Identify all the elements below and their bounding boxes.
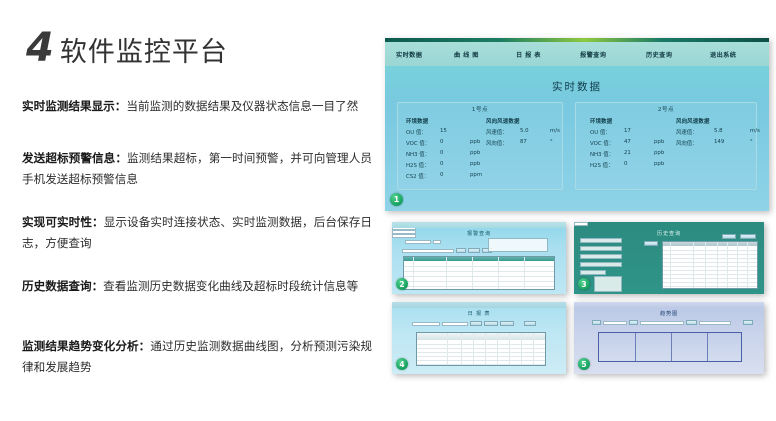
row-unit: ppb [654,150,664,156]
table-header-row [404,257,554,261]
bullet-item-1: 实时监测结果显示：当前监测的数据结果及仪器状态信息一目了然 [22,96,372,117]
history-query-button[interactable] [644,241,658,246]
bullet-item-2: 发送超标预警信息：监测结果超标，第一时间预警，并可向管理人员手机发送超标预警信息 [22,148,372,191]
menu-item-curve-chart[interactable]: 曲 线 图 [451,48,513,61]
history-filter-5[interactable] [580,270,606,275]
bullet-item-3: 实现可实时性：显示设备实时连接状态、实时监测数据，后台保存日志，方便查询 [22,212,372,255]
filter-row-1[interactable] [402,240,441,244]
trend-series-toggles[interactable] [699,321,731,325]
history-filter-4[interactable] [580,262,622,267]
screenshot-realtime-data: 实时数据 曲 线 图 日 报 表 报警查询 历史查询 退出系统 实时数据 1号点… [385,38,769,211]
trend-x-tick-2 [658,364,659,368]
row-unit: ° [550,139,553,145]
row-value: 5.8 [714,128,738,134]
right-screenshot-column: 实时数据 曲 线 图 日 报 表 报警查询 历史查询 退出系统 实时数据 1号点… [378,0,776,421]
wind-group-label: 风向风速数据 [676,117,710,125]
callout-badge-3: 3 [578,278,590,290]
station-panel-1-title: 1号点 [398,105,562,113]
row-value: 15 [440,128,464,134]
row-key: H2S 值： [590,161,620,169]
report-print-button[interactable] [500,321,514,326]
screenshot-history-query[interactable]: 历史查询 3 [574,222,764,294]
trend-close-button[interactable] [743,320,753,325]
row-key: H2S 值： [406,161,436,169]
bullet-item-4: 历史数据查询：查看监测历史数据变化曲线及超标时段统计信息等 [22,276,372,297]
bullet-lead: 实时监测结果显示： [22,99,126,113]
thumb-title: 日 报 表 [392,310,566,317]
row-unit: ppb [470,161,480,167]
row-key: OU 值： [590,128,620,136]
screenshot-alarm-query[interactable]: 报警查询 [392,222,566,294]
slide-number: 4 [26,28,53,68]
history-print-button[interactable] [740,234,756,239]
select-arrow[interactable] [433,240,441,244]
bullet-lead: 发送超标预警信息： [22,151,127,165]
menu-item-alarm-query[interactable]: 报警查询 [577,48,643,61]
station-panel-2-title: 2号点 [576,105,756,113]
row-key: CS2 值： [406,172,436,180]
row-key: VOC 值： [406,139,436,147]
row-value: 47 [624,139,648,145]
trend-station-select[interactable] [603,321,627,325]
summary-box [488,238,548,252]
row-unit: ppm [470,172,482,178]
history-filter-1[interactable] [580,238,622,243]
trend-toolbar[interactable] [592,320,753,325]
history-filter-3[interactable] [580,254,622,259]
row-value: 5.0 [520,128,544,134]
trend-plot-area [598,332,742,362]
filter-label [402,240,403,244]
daily-report-table[interactable] [416,332,546,366]
env-group-label: 环境数据 [590,117,612,125]
menu-item-daily-report[interactable]: 日 报 表 [513,48,577,61]
callout-badge-2: 2 [396,278,408,290]
row-key: VOC 值： [590,139,620,147]
row-key: NH3 值： [590,150,620,158]
row-key: 风向值： [676,139,708,147]
row-key: OU 值： [406,128,436,136]
trend-x-tick-3 [694,364,695,368]
report-date-from[interactable] [412,322,440,326]
row-unit: m/s [550,128,560,134]
row-value: 0 [440,161,464,167]
thumb-topbar [392,222,566,228]
callout-badge-1: 1 [390,193,403,206]
trend-y-tick-top [579,328,580,332]
station-panel-1: 1号点 环境数据 风向风速数据 OU 值： 15 VOC 值： 0 ppb N [397,102,563,190]
app-menu-bar[interactable]: 实时数据 曲 线 图 日 报 表 报警查询 历史查询 退出系统 [385,42,769,66]
row-key: 风速值： [676,128,708,136]
trend-x-tick-1 [622,364,623,368]
callout-badge-5: 5 [578,358,590,370]
trend-y-tick-mid [579,338,580,342]
bullet-body: 当前监测的数据结果及仪器状态信息一目了然 [126,99,358,113]
bullet-lead: 历史数据查询： [22,279,103,293]
thumb-topbar [392,302,566,308]
history-export-button[interactable] [722,234,736,239]
row-value: 0 [440,172,464,178]
select-station[interactable] [405,240,431,244]
row-key: 风速值： [486,128,516,136]
menu-item-history-query[interactable]: 历史查询 [643,48,707,61]
table-header-row [663,242,757,246]
bullet-body: 查看监测历史数据变化曲线及超标时段统计信息等 [103,279,358,293]
slide-title-text: 软件监控平台 [60,39,228,66]
report-export-button[interactable] [484,321,498,326]
app-content-area: 实时数据 1号点 环境数据 风向风速数据 OU 值： 15 VOC 值： 0 p… [385,66,769,211]
row-unit: ppb [470,139,480,145]
wind-group-label: 风向风速数据 [486,117,520,125]
left-text-column: 4 软件监控平台 实时监测结果显示：当前监测的数据结果及仪器状态信息一目了然 发… [0,0,378,421]
row-value: 0 [440,150,464,156]
row-unit: ° [750,139,753,145]
trend-back-button[interactable] [592,320,601,325]
filter-row-2[interactable] [402,248,492,253]
row-unit: m/s [750,128,760,134]
station-panel-2: 2号点 环境数据 风向风速数据 OU 值： 17 VOC 值： 47 ppb [575,102,757,190]
row-key: 风向值： [486,139,516,147]
date-range-input[interactable] [402,249,454,253]
trend-x-tick-4 [729,364,730,368]
history-date-field[interactable] [574,222,588,226]
table-header-row [417,333,545,340]
screenshot-daily-report[interactable]: 日 报 表 4 [392,302,566,374]
alarm-table[interactable] [403,256,555,290]
row-value: 17 [624,128,648,134]
thumb-title: 报警查询 [392,230,566,237]
env-group-label: 环境数据 [406,117,428,125]
row-value: 149 [714,139,738,145]
report-filter-row[interactable] [412,321,536,326]
bullet-item-5: 监测结果趋势变化分析：通过历史监测数据曲线图，分析预测污染规律和发展趋势 [22,336,372,379]
history-list-box[interactable] [594,276,622,292]
row-unit: ppb [654,161,664,167]
app-page-title: 实时数据 [385,79,769,94]
report-date-to[interactable] [442,322,468,326]
report-query-button[interactable] [470,321,482,326]
query-button[interactable] [456,248,466,253]
bullet-lead: 监测结果趋势变化分析： [22,339,150,353]
history-table[interactable] [662,241,758,289]
report-close-button[interactable] [524,321,536,326]
row-value: 87 [520,139,544,145]
menu-item-realtime-data[interactable]: 实时数据 [393,48,451,61]
bullet-lead: 实现可实时性： [22,215,104,229]
trend-daterange-input[interactable] [640,321,684,325]
menu-item-exit-system[interactable]: 退出系统 [707,48,767,61]
callout-badge-4: 4 [396,358,408,370]
trend-query-button[interactable] [686,320,697,325]
row-value: 0 [440,139,464,145]
row-unit: ppb [654,139,664,145]
thumb-topbar [574,302,764,308]
row-value: 0 [624,161,648,167]
row-value: 21 [624,150,648,156]
row-key: NH3 值： [406,150,436,158]
page-title: 4 软件监控平台 [26,28,228,68]
row-unit: ppb [470,150,480,156]
thumb-title: 趋势图 [574,310,764,317]
slide-root: 4 软件监控平台 实时监测结果显示：当前监测的数据结果及仪器状态信息一目了然 发… [0,0,776,421]
screenshot-trend-chart[interactable]: 趋势图 5 [574,302,764,374]
trend-refresh-button[interactable] [629,320,638,325]
history-filter-2[interactable] [580,246,622,251]
export-button[interactable] [468,248,480,253]
